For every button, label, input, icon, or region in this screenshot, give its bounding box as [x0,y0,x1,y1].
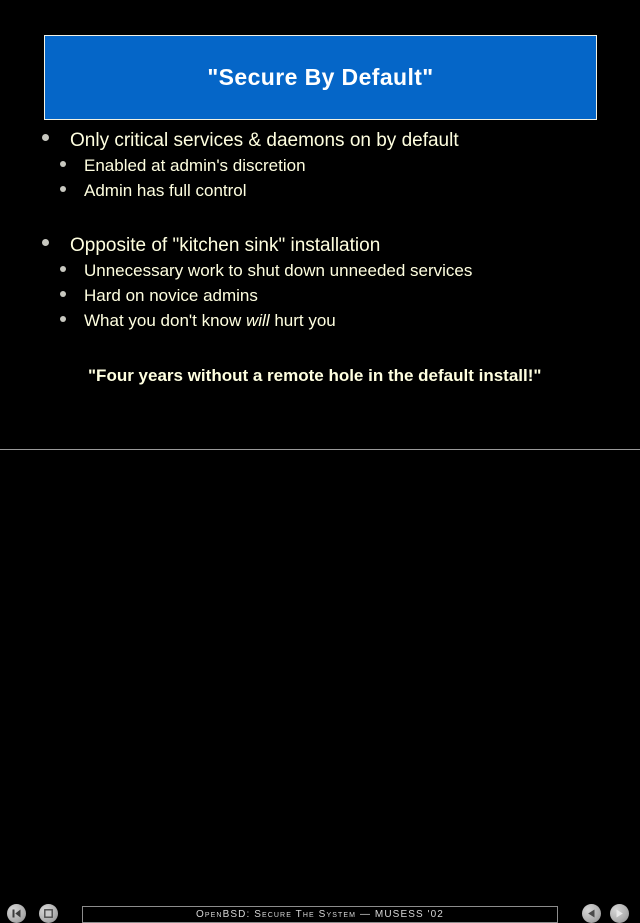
list-item: Admin has full control [0,181,640,206]
list-item: What you don't know will hurt you [0,311,640,336]
slide-canvas: "Secure By Default" Only critical servic… [0,0,640,480]
pull-quote: "Four years without a remote hole in the… [0,366,640,386]
first-slide-button[interactable] [7,904,26,923]
bullet-dot-icon [42,134,49,141]
bullet-dot-icon [60,161,66,167]
previous-slide-button[interactable] [582,904,601,923]
skip-back-icon [11,908,22,919]
bullet-dot-icon [42,239,49,246]
footer-title: OpenBSD: Secure The System — MUSESS '02 [196,909,444,920]
triangle-left-icon [586,908,597,919]
title-banner: "Secure By Default" [44,35,597,120]
stop-button[interactable] [39,904,58,923]
bullet-dot-icon [60,186,66,192]
page-title: "Secure By Default" [207,66,433,89]
list-item-label: Only critical services & daemons on by d… [70,130,459,152]
list-item: Opposite of "kitchen sink" installation [0,235,640,261]
bullet-dot-icon [60,316,66,322]
list-item: Hard on novice admins [0,286,640,311]
bullet-group-spacer [0,206,640,235]
list-item-label: Unnecessary work to shut down unneeded s… [84,261,472,281]
list-item: Unnecessary work to shut down unneeded s… [0,261,640,286]
bullet-list: Only critical services & daemons on by d… [0,130,640,386]
bullet-dot-icon [60,291,66,297]
footer-title-box: OpenBSD: Secure The System — MUSESS '02 [82,906,558,923]
next-slide-button[interactable] [610,904,629,923]
list-item: Enabled at admin's discretion [0,156,640,181]
bullet-dot-icon [60,266,66,272]
footer-toolbar: OpenBSD: Secure The System — MUSESS '02 [0,450,640,480]
list-item: Only critical services & daemons on by d… [0,130,640,156]
triangle-right-icon [614,908,625,919]
list-item-label: Admin has full control [84,181,247,201]
list-item-label: Opposite of "kitchen sink" installation [70,235,380,257]
list-item-label: Hard on novice admins [84,286,258,306]
list-item-label: Enabled at admin's discretion [84,156,306,176]
list-item-label-emphasized: What you don't know will hurt you [84,311,336,331]
stop-square-icon [43,908,54,919]
